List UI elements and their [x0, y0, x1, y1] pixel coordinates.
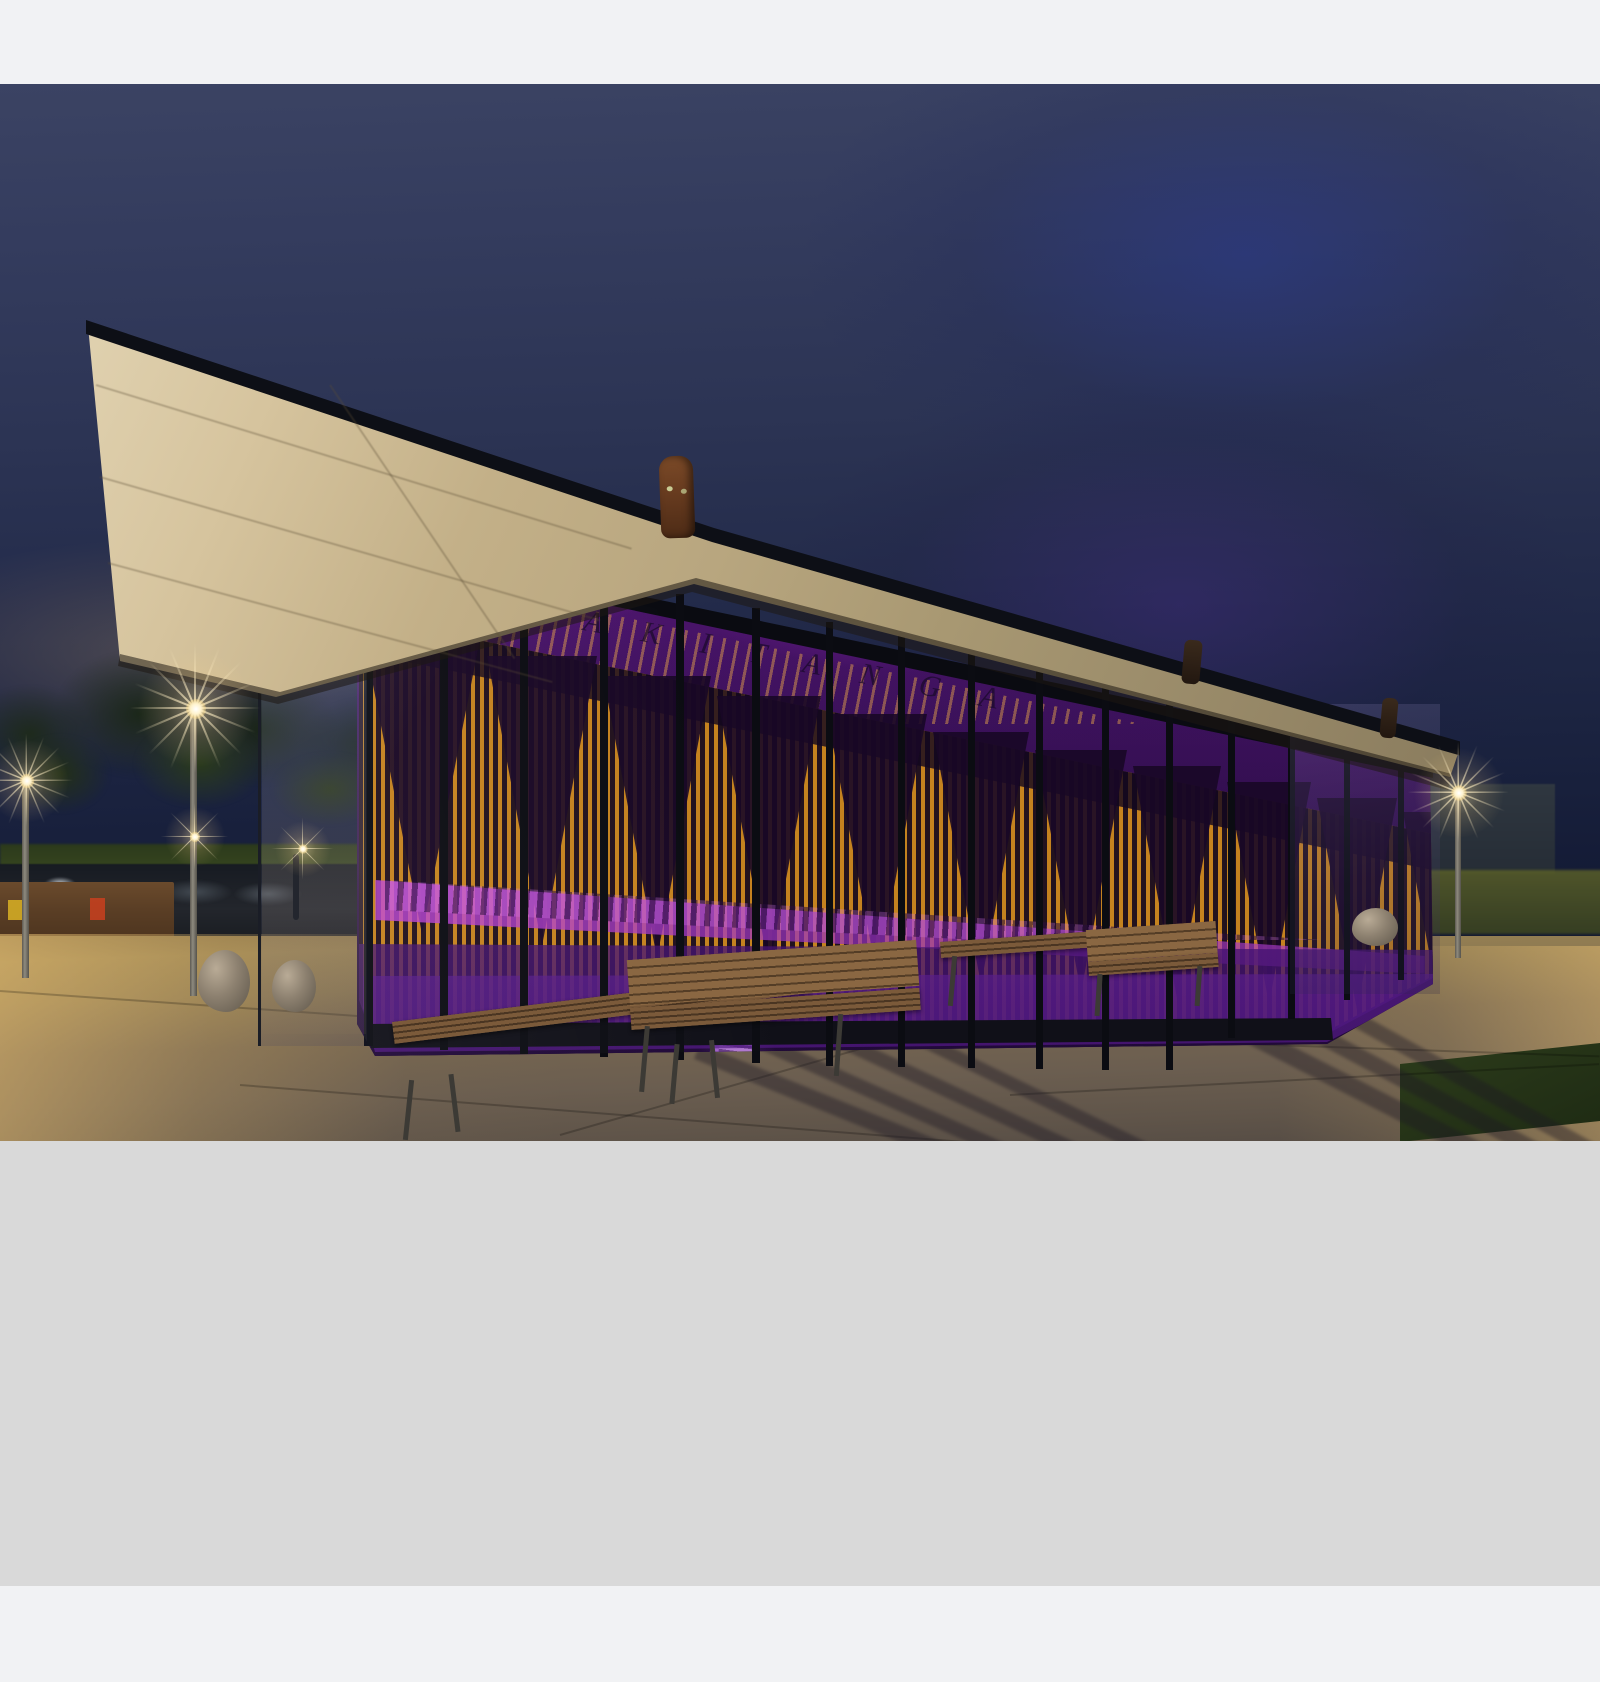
lamp-core: [1451, 785, 1467, 801]
bench-leg: [948, 956, 957, 1006]
lamp-starburst: [195, 708, 197, 710]
lamp-core: [298, 844, 308, 854]
lamp-core: [190, 832, 200, 842]
bench-leg: [669, 1044, 679, 1104]
bench-far: [1088, 930, 1218, 992]
lamp-core: [186, 699, 206, 719]
tekoteko-carving: [659, 455, 696, 538]
lamp-starburst: [303, 849, 304, 850]
roof-bracket: [1181, 639, 1203, 684]
lamp-core: [20, 774, 34, 788]
hero-image: MANAAKITANGA: [0, 84, 1600, 1141]
glass-mullion: [1166, 686, 1173, 1070]
lamp-ray: [0, 780, 73, 781]
hero-scene: MANAAKITANGA: [0, 84, 1600, 1141]
boulder: [198, 950, 250, 1012]
lamp-starburst: [1458, 792, 1460, 794]
lamp-starburst: [194, 836, 195, 837]
glass-mullion: [1228, 698, 1235, 1038]
lamp-starburst: [26, 780, 27, 781]
glass-mullion: [600, 579, 608, 1057]
featured-project-page: MANAAKITANGA: [0, 0, 1600, 1682]
boulder: [1352, 908, 1398, 946]
featured-project-card: FEATURED PROJECT DCA ARCHITECTS OF TRANS…: [0, 1141, 1600, 1586]
boulder: [272, 960, 316, 1012]
bench-with-back: [630, 960, 920, 1050]
